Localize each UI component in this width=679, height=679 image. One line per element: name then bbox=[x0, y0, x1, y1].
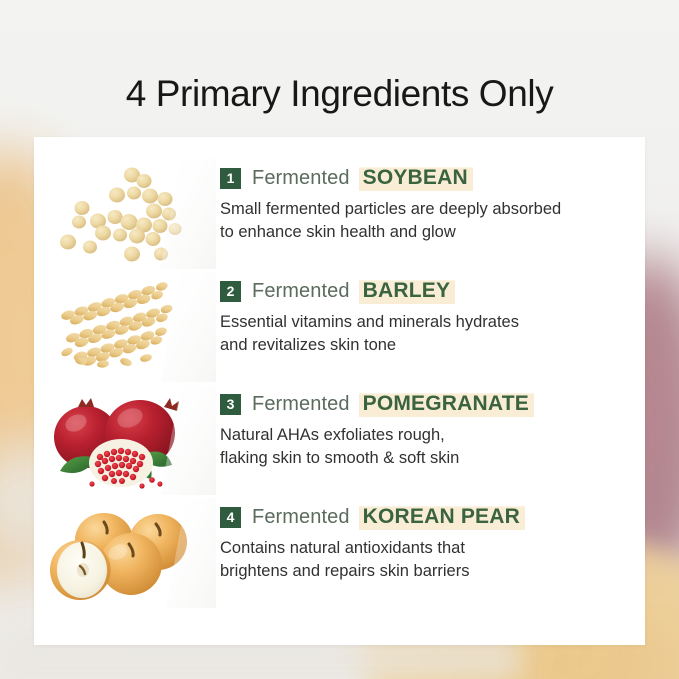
description-line: Natural AHAs exfoliates rough, bbox=[220, 424, 640, 447]
ingredient-name: POMEGRANATE bbox=[359, 391, 534, 418]
number-badge: 2 bbox=[220, 281, 241, 302]
ingredient-row-barley: 2 Fermented BARLEY Essential vitamins an… bbox=[34, 272, 645, 385]
fermented-label: Fermented bbox=[252, 280, 350, 303]
ingredient-text-korean-pear: 4 Fermented KOREAN PEAR Contains natural… bbox=[216, 498, 645, 584]
barley-photo bbox=[34, 272, 216, 382]
ingredient-row-pomegranate: 3 Fermented POMEGRANATE Natural AHAs exf… bbox=[34, 385, 645, 498]
korean-pear-photo bbox=[34, 498, 216, 608]
soybean-photo bbox=[34, 159, 216, 269]
ingredient-description: Contains natural antioxidants that brigh… bbox=[220, 537, 640, 584]
fermented-label: Fermented bbox=[252, 393, 350, 416]
ingredient-heading: 1 Fermented SOYBEAN bbox=[220, 165, 645, 191]
ingredient-row-soybean: 1 Fermented SOYBEAN Small fermented part… bbox=[34, 159, 645, 272]
description-line: and revitalizes skin tone bbox=[220, 334, 640, 357]
description-line: Small fermented particles are deeply abs… bbox=[220, 198, 640, 221]
ingredient-description: Natural AHAs exfoliates rough, flaking s… bbox=[220, 424, 640, 471]
ingredient-text-soybean: 1 Fermented SOYBEAN Small fermented part… bbox=[216, 159, 645, 245]
description-line: Essential vitamins and minerals hydrates bbox=[220, 311, 640, 334]
fermented-label: Fermented bbox=[252, 506, 350, 529]
ingredient-text-pomegranate: 3 Fermented POMEGRANATE Natural AHAs exf… bbox=[216, 385, 645, 471]
number-badge: 4 bbox=[220, 507, 241, 528]
description-line: brightens and repairs skin barriers bbox=[220, 560, 640, 583]
ingredient-name: KOREAN PEAR bbox=[359, 504, 525, 531]
ingredient-name: BARLEY bbox=[359, 278, 456, 305]
ingredient-description: Small fermented particles are deeply abs… bbox=[220, 198, 640, 245]
ingredient-text-barley: 2 Fermented BARLEY Essential vitamins an… bbox=[216, 272, 645, 358]
ingredient-card: 1 Fermented SOYBEAN Small fermented part… bbox=[34, 137, 645, 645]
ingredient-description: Essential vitamins and minerals hydrates… bbox=[220, 311, 640, 358]
ingredient-name: SOYBEAN bbox=[359, 165, 473, 192]
description-line: Contains natural antioxidants that bbox=[220, 537, 640, 560]
ingredient-heading: 4 Fermented KOREAN PEAR bbox=[220, 504, 645, 530]
description-line: flaking skin to smooth & soft skin bbox=[220, 447, 640, 470]
description-line: to enhance skin health and glow bbox=[220, 221, 640, 244]
number-badge: 1 bbox=[220, 168, 241, 189]
number-badge: 3 bbox=[220, 394, 241, 415]
ingredient-heading: 2 Fermented BARLEY bbox=[220, 278, 645, 304]
pomegranate-photo bbox=[34, 385, 216, 495]
ingredient-row-korean-pear: 4 Fermented KOREAN PEAR Contains natural… bbox=[34, 498, 645, 611]
ingredient-heading: 3 Fermented POMEGRANATE bbox=[220, 391, 645, 417]
fermented-label: Fermented bbox=[252, 167, 350, 190]
page-title: 4 Primary Ingredients Only bbox=[0, 75, 679, 112]
